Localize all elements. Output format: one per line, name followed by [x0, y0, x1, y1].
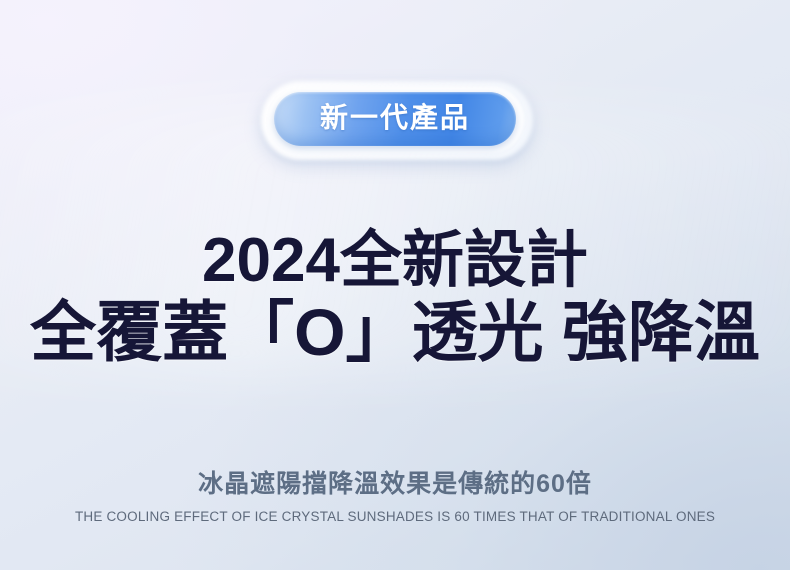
new-generation-badge[interactable]: 新一代產品	[274, 92, 516, 146]
headline-block: 2024全新設計 全覆蓋「O」透光 強降溫	[0, 228, 790, 370]
headline-line-1: 2024全新設計	[0, 228, 790, 294]
badge-shell: 新一代產品	[274, 92, 516, 146]
subtitle-english: THE COOLING EFFECT OF ICE CRYSTAL SUNSHA…	[0, 509, 790, 524]
badge-label: 新一代產品	[320, 104, 470, 132]
headline-line-2: 全覆蓋「O」透光 強降溫	[0, 296, 790, 370]
promo-banner: 新一代產品 2024全新設計 全覆蓋「O」透光 強降溫 冰晶遮陽擋降溫效果是傳統…	[0, 0, 790, 570]
badge-container: 新一代產品	[0, 92, 790, 146]
subtitle-chinese: 冰晶遮陽擋降溫效果是傳統的60倍	[0, 464, 790, 500]
